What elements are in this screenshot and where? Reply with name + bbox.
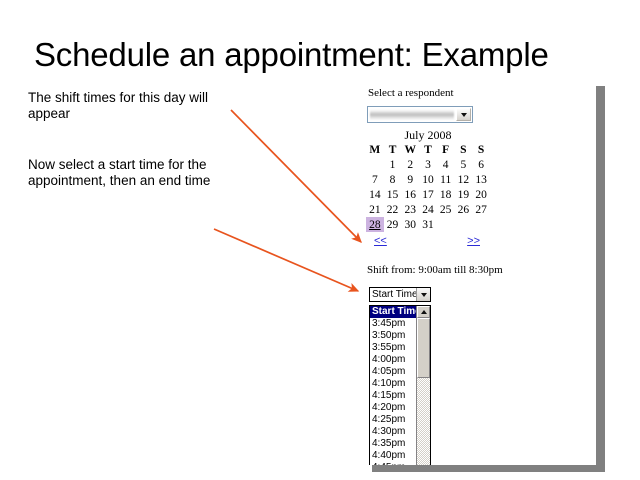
list-item-selected[interactable]: Start Time <box>370 306 416 318</box>
calendar-grid: M T W T F S S 1 2 3 4 <box>366 144 490 232</box>
calendar-day-link[interactable]: 19 <box>458 189 470 201</box>
calendar-month-label: July 2008 <box>366 128 490 144</box>
calendar-day-cell-selected: 28 <box>366 217 384 232</box>
calendar-day-link[interactable]: 30 <box>405 219 417 231</box>
calendar-weekday-row: M T W T F S S <box>366 144 490 157</box>
calendar-day-link[interactable]: 24 <box>422 204 434 216</box>
calendar-weekday-header: W <box>401 144 419 157</box>
calendar-week-row: 28 29 30 31 <box>366 217 490 232</box>
calendar-weekday-header: M <box>366 144 384 157</box>
start-time-option-list: Start Time 3:45pm 3:50pm 3:55pm 4:00pm 4… <box>370 306 416 465</box>
arrow-to-calendar <box>231 110 361 242</box>
list-item[interactable]: 4:10pm <box>370 378 416 390</box>
calendar-day-cell: 7 <box>366 172 384 187</box>
calendar-day-cell: 17 <box>419 187 437 202</box>
embedded-web-form: Select a respondent July 2008 M T W T F … <box>362 84 596 465</box>
list-item[interactable]: 4:30pm <box>370 426 416 438</box>
caret-up-icon <box>421 310 427 314</box>
calendar-day-cell <box>366 157 384 172</box>
calendar-day-link[interactable]: 21 <box>369 204 381 216</box>
calendar-day-cell: 10 <box>419 172 437 187</box>
calendar-day-cell <box>472 217 490 232</box>
annotation-select-start-time: Now select a start time for the appointm… <box>28 157 243 189</box>
panel-shadow-right <box>596 86 605 468</box>
arrow-to-start-time <box>214 229 358 291</box>
calendar-day-link[interactable]: 9 <box>407 174 413 186</box>
calendar-day-cell: 16 <box>401 187 419 202</box>
calendar-day-link[interactable]: 17 <box>422 189 434 201</box>
calendar-weekday-header: S <box>472 144 490 157</box>
page-title: Schedule an appointment: Example <box>34 36 614 74</box>
listbox-scrollbar[interactable] <box>416 306 430 465</box>
shift-info-text: Shift from: 9:00am till 8:30pm <box>367 264 503 276</box>
calendar-weekday-header: F <box>437 144 455 157</box>
list-item[interactable]: 4:25pm <box>370 414 416 426</box>
calendar-body: 1 2 3 4 5 6 7 8 9 10 11 12 13 <box>366 157 490 232</box>
calendar-weekday-header: T <box>384 144 402 157</box>
calendar-day-cell: 20 <box>472 187 490 202</box>
calendar-day-cell: 9 <box>401 172 419 187</box>
calendar-day-link[interactable]: 13 <box>475 174 487 186</box>
calendar-week-row: 7 8 9 10 11 12 13 <box>366 172 490 187</box>
calendar-day-cell: 6 <box>472 157 490 172</box>
calendar-day-link-selected[interactable]: 28 <box>369 219 381 231</box>
calendar-day-link[interactable]: 8 <box>390 174 396 186</box>
calendar-day-cell: 21 <box>366 202 384 217</box>
calendar-day-link[interactable]: 6 <box>478 159 484 171</box>
calendar-day-link[interactable]: 12 <box>458 174 470 186</box>
calendar-day-link[interactable]: 5 <box>460 159 466 171</box>
list-item[interactable]: 4:05pm <box>370 366 416 378</box>
slide-canvas: Schedule an appointment: Example The shi… <box>0 0 640 480</box>
start-time-combobox-value: Start Time <box>370 288 416 301</box>
list-item[interactable]: 3:55pm <box>370 342 416 354</box>
calendar-weekday-header: S <box>455 144 473 157</box>
calendar-day-cell: 14 <box>366 187 384 202</box>
list-item[interactable]: 4:40pm <box>370 450 416 462</box>
calendar-day-cell: 27 <box>472 202 490 217</box>
start-time-dropdown-button[interactable] <box>416 288 430 301</box>
scrollbar-track[interactable] <box>417 378 430 465</box>
calendar-day-link[interactable]: 18 <box>440 189 452 201</box>
calendar-day-cell: 4 <box>437 157 455 172</box>
start-time-listbox[interactable]: Start Time 3:45pm 3:50pm 3:55pm 4:00pm 4… <box>369 305 431 465</box>
calendar-day-cell: 3 <box>419 157 437 172</box>
calendar-day-link[interactable]: 22 <box>387 204 399 216</box>
calendar-weekday-header: T <box>419 144 437 157</box>
calendar-day-link[interactable]: 4 <box>443 159 449 171</box>
calendar-day-cell: 1 <box>384 157 402 172</box>
list-item[interactable]: 3:50pm <box>370 330 416 342</box>
calendar-day-link[interactable]: 29 <box>387 219 399 231</box>
calendar-week-row: 14 15 16 17 18 19 20 <box>366 187 490 202</box>
calendar-day-cell: 22 <box>384 202 402 217</box>
calendar-day-cell: 2 <box>401 157 419 172</box>
calendar-prev-month-link[interactable]: << <box>374 235 387 247</box>
calendar-day-link[interactable]: 20 <box>475 189 487 201</box>
calendar-day-cell: 31 <box>419 217 437 232</box>
calendar-day-link[interactable]: 14 <box>369 189 381 201</box>
annotation-shift-times: The shift times for this day will appear <box>28 90 243 122</box>
chevron-down-icon <box>461 113 467 117</box>
respondent-select[interactable] <box>367 106 473 123</box>
calendar-day-link[interactable]: 15 <box>387 189 399 201</box>
list-item[interactable]: 4:45pm <box>370 462 416 465</box>
calendar-day-cell: 23 <box>401 202 419 217</box>
calendar-day-link[interactable]: 11 <box>440 174 451 186</box>
calendar-day-link[interactable]: 2 <box>407 159 413 171</box>
calendar-day-link[interactable]: 1 <box>390 159 396 171</box>
calendar-day-cell: 12 <box>455 172 473 187</box>
calendar-day-cell: 18 <box>437 187 455 202</box>
calendar-day-cell: 11 <box>437 172 455 187</box>
scrollbar-up-button[interactable] <box>417 306 430 318</box>
calendar-day-link[interactable]: 27 <box>475 204 487 216</box>
calendar-day-link[interactable]: 3 <box>425 159 431 171</box>
calendar-day-cell <box>455 217 473 232</box>
calendar-day-link[interactable]: 31 <box>422 219 434 231</box>
calendar-day-link[interactable]: 7 <box>372 174 378 186</box>
calendar-day-link[interactable]: 16 <box>405 189 417 201</box>
calendar-next-month-link[interactable]: >> <box>467 235 480 247</box>
respondent-selected-value <box>370 109 454 120</box>
calendar-day-cell: 26 <box>455 202 473 217</box>
calendar-day-link[interactable]: 26 <box>458 204 470 216</box>
calendar-day-link[interactable]: 23 <box>405 204 417 216</box>
calendar-day-cell: 5 <box>455 157 473 172</box>
calendar-week-row: 21 22 23 24 25 26 27 <box>366 202 490 217</box>
calendar-day-link[interactable]: 25 <box>440 204 452 216</box>
calendar-day-cell: 13 <box>472 172 490 187</box>
scrollbar-thumb[interactable] <box>417 318 430 378</box>
respondent-label: Select a respondent <box>368 87 454 99</box>
calendar-day-cell: 25 <box>437 202 455 217</box>
calendar-widget: July 2008 M T W T F S S <box>366 128 490 251</box>
calendar-day-link[interactable]: 10 <box>422 174 434 186</box>
list-item[interactable]: 4:15pm <box>370 390 416 402</box>
start-time-combobox[interactable]: Start Time <box>369 287 431 302</box>
list-item[interactable]: 3:45pm <box>370 318 416 330</box>
calendar-day-cell: 8 <box>384 172 402 187</box>
list-item[interactable]: 4:00pm <box>370 354 416 366</box>
chevron-down-icon <box>421 293 427 297</box>
calendar-day-cell: 30 <box>401 217 419 232</box>
calendar-day-cell: 24 <box>419 202 437 217</box>
calendar-day-cell <box>437 217 455 232</box>
calendar-week-row: 1 2 3 4 5 6 <box>366 157 490 172</box>
respondent-dropdown-button[interactable] <box>456 108 471 121</box>
calendar-navigation: << >> <box>366 235 490 251</box>
list-item[interactable]: 4:20pm <box>370 402 416 414</box>
calendar-day-cell: 29 <box>384 217 402 232</box>
calendar-day-cell: 15 <box>384 187 402 202</box>
list-item[interactable]: 4:35pm <box>370 438 416 450</box>
calendar-day-cell: 19 <box>455 187 473 202</box>
